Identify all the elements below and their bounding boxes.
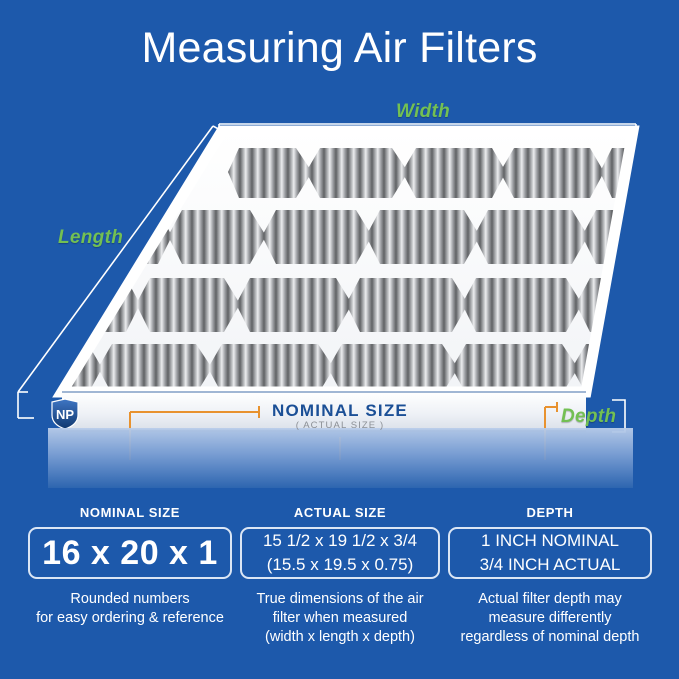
- caption-line: regardless of nominal depth: [448, 628, 652, 647]
- column-nominal-size: NOMINAL SIZE 16 x 20 x 1 Rounded numbers…: [28, 505, 232, 628]
- depth-actual-value: 3/4 INCH ACTUAL: [480, 553, 621, 577]
- nominal-size-edge-label: NOMINAL SIZE: [250, 401, 430, 421]
- filter-reflection: [48, 428, 633, 488]
- column-caption: Actual filter depth may measure differen…: [448, 590, 652, 647]
- width-label: Width: [396, 101, 450, 123]
- caption-line: (width x length x depth): [240, 628, 440, 647]
- column-caption: True dimensions of the air filter when m…: [240, 590, 440, 647]
- actual-size-value-box: 15 1/2 x 19 1/2 x 3/4 (15.5 x 19.5 x 0.7…: [240, 527, 440, 579]
- nominal-size-value: 16 x 20 x 1: [42, 534, 218, 573]
- svg-text:NP: NP: [56, 407, 74, 422]
- caption-line: measure differently: [448, 609, 652, 628]
- depth-label: Depth: [561, 406, 616, 428]
- actual-size-value: 15 1/2 x 19 1/2 x 3/4: [263, 529, 417, 553]
- caption-line: Actual filter depth may: [448, 590, 652, 609]
- column-actual-size: ACTUAL SIZE 15 1/2 x 19 1/2 x 3/4 (15.5 …: [240, 505, 440, 647]
- caption-line: for easy ordering & reference: [28, 609, 232, 628]
- depth-nominal-value: 1 INCH NOMINAL: [481, 529, 619, 553]
- infographic-canvas: Measuring Air Filters: [0, 0, 679, 679]
- column-depth: DEPTH 1 INCH NOMINAL 3/4 INCH ACTUAL Act…: [448, 505, 652, 647]
- length-label: Length: [58, 227, 123, 249]
- nominal-size-value-box: 16 x 20 x 1: [28, 527, 232, 579]
- column-caption: Rounded numbers for easy ordering & refe…: [28, 590, 232, 628]
- actual-size-edge-sublabel: ( ACTUAL SIZE ): [250, 420, 430, 431]
- caption-line: filter when measured: [240, 609, 440, 628]
- column-heading: ACTUAL SIZE: [240, 505, 440, 520]
- caption-line: True dimensions of the air: [240, 590, 440, 609]
- depth-value-box: 1 INCH NOMINAL 3/4 INCH ACTUAL: [448, 527, 652, 579]
- np-brand-badge: NP: [52, 399, 78, 429]
- caption-line: Rounded numbers: [28, 590, 232, 609]
- column-heading: NOMINAL SIZE: [28, 505, 232, 520]
- actual-size-value-decimal: (15.5 x 19.5 x 0.75): [267, 553, 413, 577]
- column-heading: DEPTH: [448, 505, 652, 520]
